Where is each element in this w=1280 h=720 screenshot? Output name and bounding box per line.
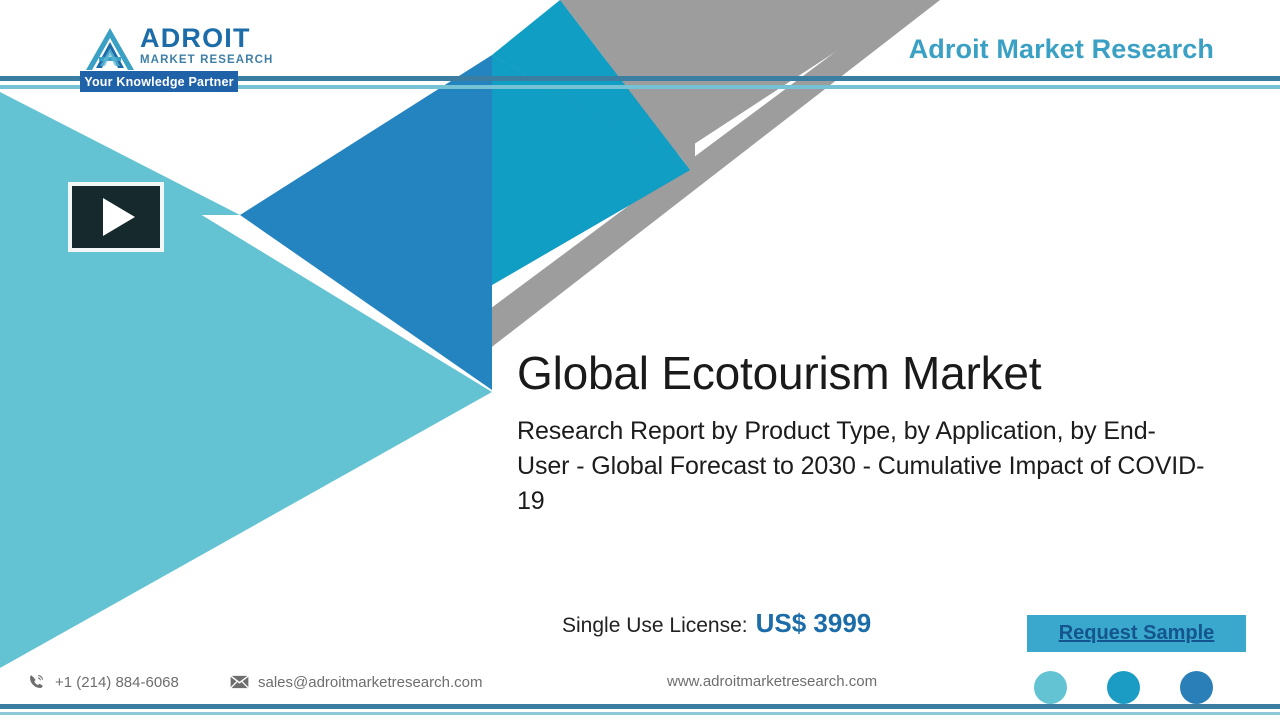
request-sample-button[interactable]: Request Sample <box>1027 615 1246 652</box>
logo-name: ADROIT <box>140 24 326 53</box>
footer-phone-text: +1 (214) 884-6068 <box>55 674 179 691</box>
logo-subtitle: MARKET RESEARCH <box>140 53 326 67</box>
footer-website-text: www.adroitmarketresearch.com <box>667 673 877 690</box>
tagline-badge: Your Knowledge Partner <box>80 71 238 92</box>
footer-dot-1 <box>1034 671 1067 704</box>
play-icon <box>103 198 135 236</box>
video-play-button[interactable] <box>68 182 164 252</box>
footer-email[interactable]: sales@adroitmarketresearch.com <box>229 673 482 691</box>
footer-dot-3 <box>1180 671 1213 704</box>
footer-website[interactable]: www.adroitmarketresearch.com <box>667 673 877 690</box>
price-value: US$ 3999 <box>756 608 872 639</box>
logo-wordmark: ADROIT MARKET RESEARCH <box>140 24 326 67</box>
report-subtitle: Research Report by Product Type, by Appl… <box>517 414 1207 519</box>
page-title: Global Ecotourism Market <box>517 344 1041 402</box>
request-sample-label: Request Sample <box>1059 622 1215 645</box>
footer-email-text: sales@adroitmarketresearch.com <box>258 674 482 691</box>
slide-canvas: ADROIT MARKET RESEARCH Your Knowledge Pa… <box>0 0 1280 720</box>
footer-dot-2 <box>1107 671 1140 704</box>
envelope-icon <box>229 673 249 691</box>
footer: +1 (214) 884-6068 sales@adroitmarketrese… <box>0 660 1280 720</box>
phone-icon <box>26 673 46 691</box>
footer-dots <box>1034 671 1213 704</box>
pricing-row: Single Use License: US$ 3999 <box>562 608 871 639</box>
footer-line-light <box>0 712 1280 715</box>
triangle-a-logo-icon <box>82 26 138 72</box>
price-label: Single Use License: <box>562 614 748 638</box>
company-logo[interactable]: ADROIT MARKET RESEARCH Your Knowledge Pa… <box>78 24 328 96</box>
footer-phone[interactable]: +1 (214) 884-6068 <box>26 673 179 691</box>
footer-line-dark <box>0 704 1280 709</box>
brand-header-title: Adroit Market Research <box>909 34 1214 65</box>
